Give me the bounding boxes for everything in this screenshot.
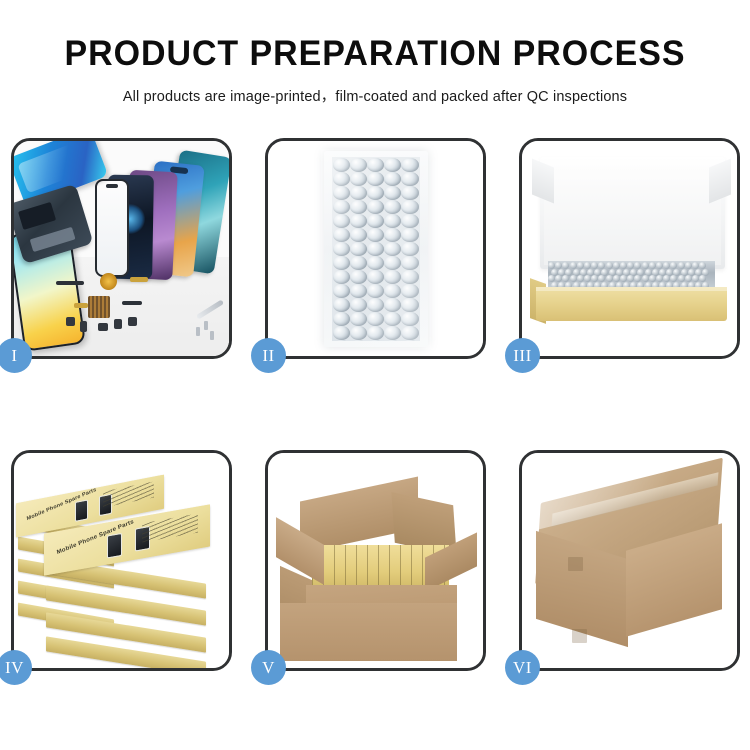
page-subtitle: All products are image-printed，film-coat… <box>0 85 750 106</box>
step-5-image <box>268 453 483 668</box>
step-badge-5: V <box>251 650 286 685</box>
bubble <box>642 275 649 282</box>
mailer-box-flap-left <box>532 159 554 204</box>
mailer-box-lid <box>540 157 725 269</box>
bubble <box>401 200 418 214</box>
bubble <box>613 262 620 269</box>
bubble <box>333 298 350 312</box>
bubble <box>384 340 401 341</box>
bubble-wrap-sheet <box>332 157 420 341</box>
bubble <box>620 262 627 269</box>
bubble <box>333 340 350 341</box>
bubble <box>333 326 350 340</box>
mailer-box-flap-right <box>709 159 731 204</box>
part-component <box>114 319 122 329</box>
part-component <box>128 317 137 326</box>
bubble <box>670 262 677 269</box>
bubble <box>692 262 699 269</box>
bubble <box>670 275 677 282</box>
page-title: PRODUCT PREPARATION PROCESS <box>11 34 739 74</box>
bubble <box>570 275 577 282</box>
bubble <box>367 298 384 312</box>
bubble <box>384 326 401 340</box>
bubble <box>401 214 418 228</box>
part-screw <box>204 321 208 330</box>
step-badge-1: I <box>0 338 32 373</box>
screen-protector <box>95 179 129 277</box>
bubble <box>333 214 350 228</box>
bubble <box>401 298 418 312</box>
retail-box-stack: Mobile Phone Spare Parts Mobile Phone Sp… <box>14 453 229 668</box>
bubble-grid <box>332 157 420 341</box>
bubble <box>642 262 649 269</box>
bubble <box>649 275 656 282</box>
bubble <box>350 172 367 186</box>
process-step-4: Mobile Phone Spare Parts Mobile Phone Sp… <box>11 450 232 671</box>
bubble <box>350 298 367 312</box>
bubble <box>634 262 641 269</box>
bubble <box>620 275 627 282</box>
bubble <box>384 256 401 270</box>
step-4-image: Mobile Phone Spare Parts Mobile Phone Sp… <box>14 453 229 668</box>
bubble <box>333 312 350 326</box>
step-1-image <box>14 141 229 356</box>
bubble <box>367 200 384 214</box>
mailer-box-contents <box>548 261 715 287</box>
part-component <box>98 323 108 331</box>
part-screw <box>210 331 214 340</box>
bubble <box>350 186 367 200</box>
bubble <box>350 214 367 228</box>
bubble <box>584 275 591 282</box>
bubble <box>384 172 401 186</box>
bubble <box>685 275 692 282</box>
bubble <box>548 262 555 269</box>
bubble <box>350 158 367 172</box>
retail-box-phone-art <box>75 500 88 523</box>
bubble <box>350 256 367 270</box>
bubble <box>401 242 418 256</box>
step-badge-2: II <box>251 338 286 373</box>
bubble <box>350 326 367 340</box>
bubble <box>367 256 384 270</box>
bubble <box>656 275 663 282</box>
bubble <box>367 242 384 256</box>
bubble <box>367 326 384 340</box>
bubble <box>699 275 706 282</box>
part-screw <box>196 327 200 336</box>
bubble <box>598 262 605 269</box>
bubble <box>401 340 418 341</box>
part-flex-cable <box>130 277 148 282</box>
bubble <box>350 242 367 256</box>
bubble <box>333 270 350 284</box>
bubble <box>401 172 418 186</box>
bubble <box>367 158 384 172</box>
bubble <box>598 275 605 282</box>
bubble <box>562 275 569 282</box>
bubble <box>663 275 670 282</box>
bubble <box>627 262 634 269</box>
bubble <box>384 228 401 242</box>
header: PRODUCT PREPARATION PROCESS All products… <box>0 0 750 106</box>
bubble <box>384 298 401 312</box>
step-badge-6: VI <box>505 650 540 685</box>
process-step-5: V <box>265 450 486 671</box>
part-flex-cable <box>74 303 88 308</box>
step-badge-4: IV <box>0 650 32 685</box>
bubble <box>649 262 656 269</box>
bubble <box>367 186 384 200</box>
bubble <box>401 186 418 200</box>
bubble <box>333 186 350 200</box>
bubble <box>663 262 670 269</box>
bubble <box>333 158 350 172</box>
bubble <box>562 262 569 269</box>
bubble <box>384 158 401 172</box>
bubble <box>591 275 598 282</box>
bubble <box>606 262 613 269</box>
carton-front-face <box>280 603 457 661</box>
process-step-grid: I II III <box>11 138 740 671</box>
bubble <box>678 275 685 282</box>
carton-handle-notch <box>568 557 583 571</box>
bubble <box>384 284 401 298</box>
bubble <box>634 275 641 282</box>
bubble <box>577 262 584 269</box>
bubble <box>367 172 384 186</box>
bubble <box>401 284 418 298</box>
part-chip <box>88 296 110 318</box>
bubble <box>401 326 418 340</box>
bubble <box>367 312 384 326</box>
bubble <box>401 158 418 172</box>
bubble <box>401 270 418 284</box>
bubble <box>367 340 384 341</box>
bubble <box>606 275 613 282</box>
bubble <box>555 275 562 282</box>
bubble <box>333 284 350 298</box>
step-badge-3: III <box>505 338 540 373</box>
part-component <box>66 317 75 326</box>
bubble <box>350 228 367 242</box>
bubble <box>384 200 401 214</box>
bubble <box>367 270 384 284</box>
step-3-image <box>522 141 737 356</box>
process-step-2: II <box>265 138 486 359</box>
part-component <box>80 321 87 332</box>
bubble <box>685 262 692 269</box>
bubble <box>350 200 367 214</box>
step-6-image <box>522 453 737 668</box>
bubble <box>384 312 401 326</box>
bubble <box>367 214 384 228</box>
process-step-3: III <box>519 138 740 359</box>
part-strip <box>56 281 84 285</box>
process-step-1: I <box>11 138 232 359</box>
bubble-wrap-package <box>324 151 428 347</box>
process-step-6: VI <box>519 450 740 671</box>
bubble <box>401 312 418 326</box>
carton-handle-notch <box>572 629 587 643</box>
bubble <box>577 275 584 282</box>
bubble <box>692 275 699 282</box>
part-strip <box>122 301 142 305</box>
bubble <box>350 312 367 326</box>
bubble <box>384 214 401 228</box>
bubble <box>555 262 562 269</box>
bubble <box>613 275 620 282</box>
bubble <box>350 270 367 284</box>
bubble <box>333 228 350 242</box>
bubble <box>584 262 591 269</box>
bubble <box>699 262 706 269</box>
bubble <box>401 256 418 270</box>
step-2-image <box>268 141 483 356</box>
bubble <box>401 228 418 242</box>
product-preparation-infographic: PRODUCT PREPARATION PROCESS All products… <box>0 0 750 750</box>
bubble <box>350 340 367 341</box>
bubble <box>548 275 555 282</box>
bubble <box>333 242 350 256</box>
bubble <box>678 262 685 269</box>
bubble <box>333 172 350 186</box>
part-coil <box>100 273 117 290</box>
bubble <box>656 262 663 269</box>
bubble <box>367 284 384 298</box>
retail-box-phone-art <box>107 533 122 559</box>
mailer-box-base <box>536 287 727 321</box>
bubble <box>384 242 401 256</box>
bubble <box>333 256 350 270</box>
bubble <box>570 262 577 269</box>
bubble <box>384 186 401 200</box>
bubble <box>627 275 634 282</box>
bubble <box>350 284 367 298</box>
bubble <box>333 200 350 214</box>
bubble <box>591 262 598 269</box>
bubble <box>367 228 384 242</box>
bubble <box>384 270 401 284</box>
